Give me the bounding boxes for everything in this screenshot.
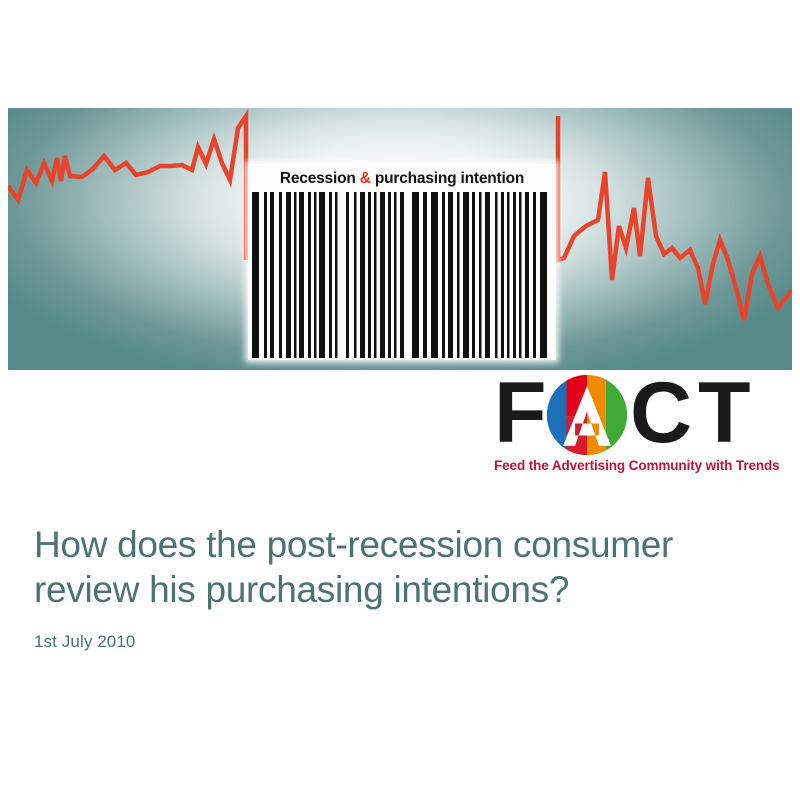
title-block: How does the post-recession consumer rev… (34, 522, 764, 652)
a-segment-green (606, 374, 630, 456)
slide-date: 1st July 2010 (34, 632, 764, 652)
a-segment-orange-bottom (587, 417, 606, 456)
page-title-line-1: How does the post-recession consumer (34, 524, 673, 565)
trend-line-right (558, 116, 792, 320)
a-segment-crimson-bottom (567, 417, 588, 456)
logo-letter-f: F (494, 370, 545, 456)
logo-tagline: Feed the Advertising Community with Tren… (494, 458, 794, 473)
logo-letter-t: T (698, 370, 749, 456)
page-title-line-2: review his purchasing intentions? (34, 569, 569, 610)
barcode-graphic: Recession & purchasing intention (248, 164, 556, 360)
fact-wordmark: F (492, 370, 792, 460)
barcode-caption-word-1: Recession (280, 170, 356, 187)
hero-banner: Recession & purchasing intention (8, 108, 792, 370)
barcode-caption-ampersand: & (360, 170, 371, 187)
page-title: How does the post-recession consumer rev… (34, 522, 764, 612)
barcode-caption-word-2: purchasing intention (375, 170, 524, 187)
logo-letter-c: C (630, 370, 690, 456)
trend-line-left (8, 116, 246, 260)
a-segment-blue (544, 374, 566, 456)
a-segment-orange-top (587, 374, 606, 417)
title-slide: Recession & purchasing intention (0, 0, 800, 800)
pie-chart-a-icon (544, 374, 630, 456)
barcode-caption: Recession & purchasing intention (248, 170, 556, 188)
a-segment-red-top (567, 374, 588, 417)
fact-logo: F (492, 370, 792, 482)
barcode-bars (250, 192, 554, 358)
